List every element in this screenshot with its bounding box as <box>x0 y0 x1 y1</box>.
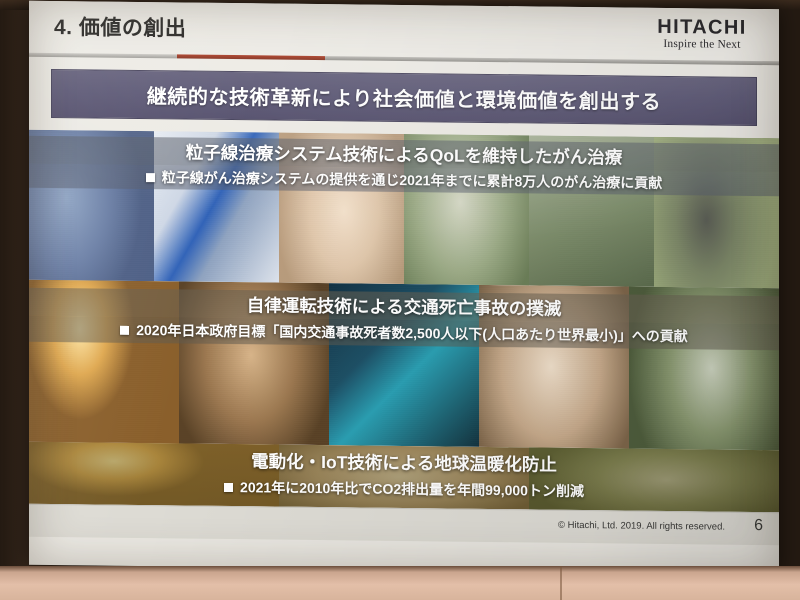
statement-banner: 継続的な技術革新により社会価値と環境価値を創出する <box>51 69 757 126</box>
bullet-square-icon <box>120 325 129 334</box>
bullet-square-icon <box>224 482 233 491</box>
banner-text: 継続的な技術革新により社会価値と環境価値を創出する <box>147 80 662 115</box>
section-band-healthcare: 粒子線治療システム技術によるQoLを維持したがん治療 粒子線がん治療システムの提… <box>29 130 779 289</box>
banner-container: 継続的な技術革新により社会価値と環境価値を創出する <box>29 58 779 139</box>
divider-segment-accent <box>177 54 325 60</box>
copyright-text: © Hitachi, Ltd. 2019. All rights reserve… <box>558 520 725 533</box>
section-band-mobility: 自律運転技術による交通死亡事故の撲滅 2020年日本政府目標「国内交通事故死者数… <box>29 280 779 451</box>
section-band-energy: 電動化・IoT技術による地球温暖化防止 2021年に2010年比でCO2排出量を… <box>29 442 779 513</box>
page-number: 6 <box>754 517 763 535</box>
divider-segment-left <box>29 53 177 59</box>
bullet-square-icon <box>146 173 155 182</box>
section-bullet-text-healthcare: 粒子線がん治療システムの提供を通じ2021年までに累計8万人のがん治療に貢献 <box>162 167 663 193</box>
logo-wordmark: HITACHI <box>639 16 765 40</box>
wall-panel-seam <box>560 566 562 600</box>
room-background: 4. 価値の創出 HITACHI Inspire the Next 継続的な技術… <box>0 0 800 600</box>
section-bullet-text-energy: 2021年に2010年比でCO2排出量を年間99,000トン削減 <box>240 477 584 501</box>
hitachi-logo: HITACHI Inspire the Next <box>639 16 765 51</box>
section-bullet-text-mobility: 2020年日本政府目標「国内交通事故死者数2,500人以下(人口あたり世界最小)… <box>136 320 688 346</box>
page-title: 4. 価値の創出 <box>54 11 186 43</box>
wall-bottom <box>0 566 800 600</box>
slide-header: 4. 価値の創出 HITACHI Inspire the Next <box>29 1 779 62</box>
presentation-slide: 4. 価値の創出 HITACHI Inspire the Next 継続的な技術… <box>29 1 779 574</box>
